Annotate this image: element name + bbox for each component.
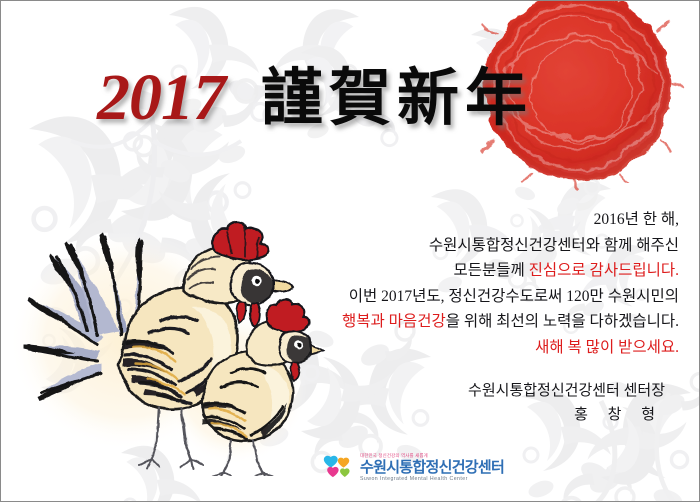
message-line: 행복과 마음건강을 위해 최선의 노력을 다하겠습니다. [159,309,679,335]
year-text: 2017 [97,65,225,131]
message-text: 수원시통합정신건강센터와 함께 해주신 [429,237,679,254]
logo-text-block: 대한민국 정신건강의 역사를 새롭게 수원시통합정신건강센터 Suwon Int… [360,454,504,482]
message-text: 이번 2017년도, 정신건강수도로써 120만 수원시민의 [349,288,679,305]
heart-blue-icon [324,456,338,468]
signature-block: 수원시통합정신건강센터 센터장 홍 창 형 [468,379,665,427]
heart-orange-icon [338,458,349,468]
message-line: 이번 2017년도, 정신건강수도로써 120만 수원시민의 [159,284,679,310]
logo-name-korean: 수원시통합정신건강센터 [360,460,504,475]
message-line: 2016년 한 해, [159,207,679,233]
greeting-hanja-text: 謹賀新年 [261,67,533,129]
message-line: 새해 복 많이 받으세요. [159,335,679,361]
message-text: 2016년 한 해, [594,211,679,228]
headline: 2017 謹賀新年 [1,53,700,143]
greeting-message: 2016년 한 해,수원시통합정신건강센터와 함께 해주신모든분들께 진심으로 … [159,207,679,360]
signer-name: 홍 창 형 [468,403,665,427]
message-highlight-text: 진심으로 감사드립니다. [529,262,679,279]
signature-title: 수원시통합정신건강센터 센터장 [468,379,665,403]
message-highlight-text: 행복과 마음건강 [342,313,446,330]
logo-name-english: Suwon Integrated Mental Health Center [360,477,504,482]
message-line: 모든분들께 진심으로 감사드립니다. [159,258,679,284]
four-hearts-logo-icon [321,451,355,485]
message-line: 수원시통합정신건강센터와 함께 해주신 [159,233,679,259]
message-highlight-text: 새해 복 많이 받으세요. [535,339,679,356]
message-text: 을 위해 최선의 노력을 다하겠습니다. [446,313,679,330]
heart-green-icon [340,468,349,477]
heart-magenta-icon [327,467,338,477]
new-year-greeting-card: 2017 謹賀新年 2016년 한 해,수원시통합정신건강센터와 함께 해주신모… [0,0,700,502]
organization-logo: 대한민국 정신건강의 역사를 새롭게 수원시통합정신건강센터 Suwon Int… [321,451,504,485]
message-text: 모든분들께 [453,262,528,279]
logo-tagline: 대한민국 정신건강의 역사를 새롭게 [360,454,504,458]
